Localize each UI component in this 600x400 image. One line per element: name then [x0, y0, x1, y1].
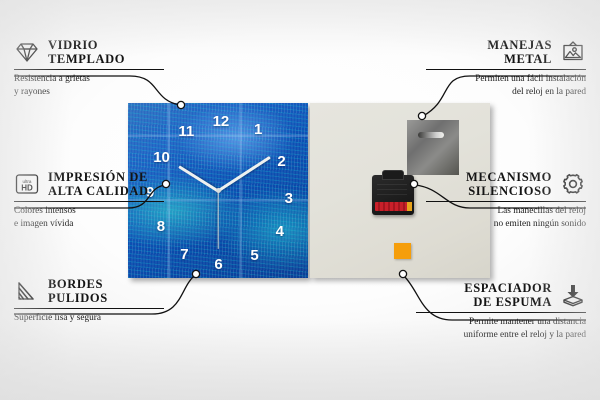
feature-title-line-1: BORDES	[48, 277, 108, 291]
feature-title-line-2: ALTA CALIDAD	[48, 184, 149, 198]
metal-hanger-plate	[407, 120, 459, 175]
infographic-canvas: 12 1 2 3 4 5 6 7 8 9 10 11	[0, 0, 600, 400]
feature-description: Resistencia a grietas y rayones	[14, 73, 164, 98]
ultra-hd-icon: ultra HD	[14, 172, 40, 196]
feature-description: Colores intensos e imagen vívida	[14, 205, 164, 230]
feature-manejas-metal: MANEJAS METAL Permiten una fácil instala…	[426, 38, 586, 98]
feature-title-line-2: DE ESPUMA	[464, 295, 552, 309]
feature-title-line-1: VIDRIO	[48, 38, 125, 52]
clock-numeral-1: 1	[254, 122, 262, 137]
battery-terminal	[407, 202, 412, 211]
svg-text:HD: HD	[21, 183, 33, 192]
polished-edge-icon	[14, 279, 40, 303]
movement-detail	[377, 184, 407, 198]
feature-title-line-1: IMPRESIÓN DE	[48, 170, 149, 184]
quartz-movement	[372, 175, 414, 215]
clock-numeral-2: 2	[277, 154, 285, 169]
clock-numeral-3: 3	[285, 191, 293, 206]
feature-title-line-1: MECANISMO	[466, 170, 552, 184]
feature-vidrio-templado: VIDRIO TEMPLADO Resistencia a grietas y …	[14, 38, 164, 98]
feature-title-line-2: METAL	[487, 52, 552, 66]
clock-numeral-4: 4	[276, 224, 284, 239]
feature-title-line-2: TEMPLADO	[48, 52, 125, 66]
foam-spacer-icon	[560, 283, 586, 307]
clock-second-hand	[217, 191, 218, 249]
feature-bordes-pulidos: BORDES PULIDOS Superficie lisa y segura	[14, 277, 164, 325]
feature-espaciador-espuma: ESPACIADOR DE ESPUMA Permite mantener un…	[416, 281, 586, 341]
feature-mecanismo-silencioso: MECANISMO SILENCIOSO Las manecillas del …	[426, 170, 586, 230]
diamond-icon	[14, 40, 40, 64]
clock-numeral-12: 12	[213, 114, 230, 129]
feature-divider	[14, 308, 164, 309]
feature-impresion-alta-calidad: ultra HD IMPRESIÓN DE ALTA CALIDAD Color…	[14, 170, 164, 230]
feature-title-line-1: MANEJAS	[487, 38, 552, 52]
clock-numeral-6: 6	[214, 257, 222, 272]
clock-numeral-10: 10	[153, 150, 170, 165]
feature-description: Permite mantener una distancia uniforme …	[416, 316, 586, 341]
feature-title-line-2: SILENCIOSO	[466, 184, 552, 198]
clock-numeral-5: 5	[250, 248, 258, 263]
gear-icon	[560, 172, 586, 196]
movement-shaft	[382, 170, 404, 180]
clock-numeral-11: 11	[178, 124, 194, 139]
orange-foam-spacer	[394, 243, 411, 259]
picture-hanger-icon	[560, 40, 586, 64]
feature-divider	[426, 69, 586, 70]
feature-description: Superficie lisa y segura	[14, 312, 164, 325]
hanger-slot	[418, 132, 444, 138]
feature-divider	[14, 69, 164, 70]
feature-divider	[426, 201, 586, 202]
feature-divider	[14, 201, 164, 202]
battery	[375, 202, 409, 211]
feature-title-line-2: PULIDOS	[48, 291, 108, 305]
clock-numeral-7: 7	[180, 247, 188, 262]
feature-description: Permiten una fácil instalación del reloj…	[426, 73, 586, 98]
feature-description: Las manecillas del reloj no emiten ningú…	[426, 205, 586, 230]
feature-divider	[416, 312, 586, 313]
clock-center-pivot	[216, 188, 221, 193]
feature-title-line-1: ESPACIADOR	[464, 281, 552, 295]
